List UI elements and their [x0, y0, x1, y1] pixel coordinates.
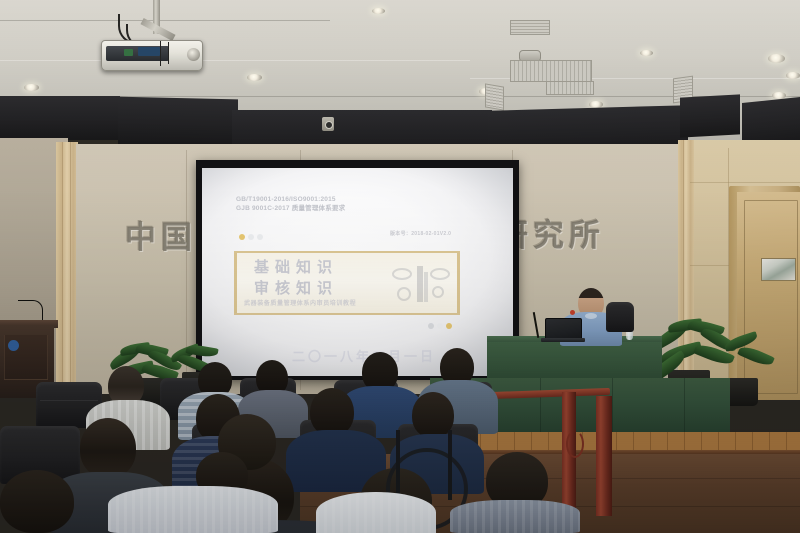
ceiling-air-vent [546, 81, 594, 95]
foreground-shoulder [316, 492, 436, 533]
downlight [247, 74, 262, 81]
conference-room-photo: 中国 研究所 GB/T19001-2016/ISO9001:2015 GJB 9… [0, 0, 800, 533]
slide-dot [437, 323, 443, 329]
slide-dot [248, 234, 254, 240]
stage-skirt-fold [684, 378, 685, 436]
downlight [24, 84, 39, 91]
attendee-torso [108, 486, 278, 533]
slide-dot-active [239, 234, 245, 240]
shirt-stripes [316, 492, 436, 533]
projector-cable [160, 41, 161, 66]
downlight [640, 50, 653, 56]
door-panel-inset [744, 200, 798, 394]
slide-dot [257, 234, 263, 240]
laptop-base [541, 338, 585, 342]
projector-cable [168, 42, 169, 64]
projector-port [138, 47, 160, 56]
projector-port [124, 49, 133, 56]
microphone-head [570, 310, 575, 315]
wall-dark-band [0, 96, 120, 140]
downlight [786, 72, 800, 79]
camera-lens-icon [325, 121, 333, 129]
slide-standard-line-1: GB/T19001-2016/ISO9001:2015 [236, 196, 336, 205]
stage-railing-post [596, 396, 612, 516]
stage-skirt-fold [540, 378, 541, 436]
slide-document-number: 版本号：2018-02-01V2.0 [390, 230, 451, 237]
railing-hook [566, 430, 584, 458]
slide-dot [428, 323, 434, 329]
band-cap-right [457, 253, 460, 313]
slide-dots-bottom [428, 323, 452, 329]
ceiling-air-vent [510, 20, 550, 35]
chair-seam [40, 400, 98, 401]
stage-front-edge [430, 432, 800, 452]
attendee-head [80, 418, 136, 478]
slide-standard-line-2: GJB 9001C-2017 质量管理体系要求 [236, 205, 345, 214]
wall-wood-stripe [70, 142, 71, 387]
wall-panel-line [690, 182, 800, 183]
slide-title-line-1: 基础知识 [254, 256, 338, 277]
chair-frame-bar [448, 430, 452, 500]
ceiling-panel-line [0, 60, 470, 61]
wall-dark-band [118, 97, 238, 148]
slide-title-line-2: 审核知识 [254, 277, 338, 298]
slide-emblem-icon [390, 262, 450, 306]
shirt-stripes [108, 486, 278, 533]
presenter-collar [585, 313, 597, 319]
wall-wood-trim [56, 142, 78, 387]
attendee-head [310, 388, 354, 436]
attendee-torso [450, 500, 580, 533]
shirt-stripes [450, 500, 580, 533]
stage-skirt-fold [612, 378, 613, 436]
wall-dark-band [680, 94, 740, 137]
slide-subtitle: 武器装备质量管理体系内审员培训教程 [244, 298, 356, 307]
attendee-head [0, 470, 74, 533]
ceiling-air-vent [510, 60, 592, 82]
downlight [372, 8, 385, 14]
band-cap-left [234, 253, 237, 313]
presenter-chair [606, 302, 634, 332]
slide-dot-active [446, 323, 452, 329]
institute-logo [8, 340, 19, 351]
projector-lens [187, 48, 200, 61]
slide-dots-top [239, 234, 263, 240]
ceiling-seam [0, 20, 330, 21]
door-window [761, 258, 796, 281]
ceiling-air-vent [485, 83, 504, 110]
wall-wood-stripe [62, 142, 63, 387]
downlight [768, 54, 785, 63]
projection-screen[interactable]: GB/T19001-2016/ISO9001:2015 GJB 9001C-20… [202, 168, 513, 376]
wall-wood-stripe [683, 140, 684, 400]
wall-calligraphy-left: 中国 [125, 212, 197, 257]
